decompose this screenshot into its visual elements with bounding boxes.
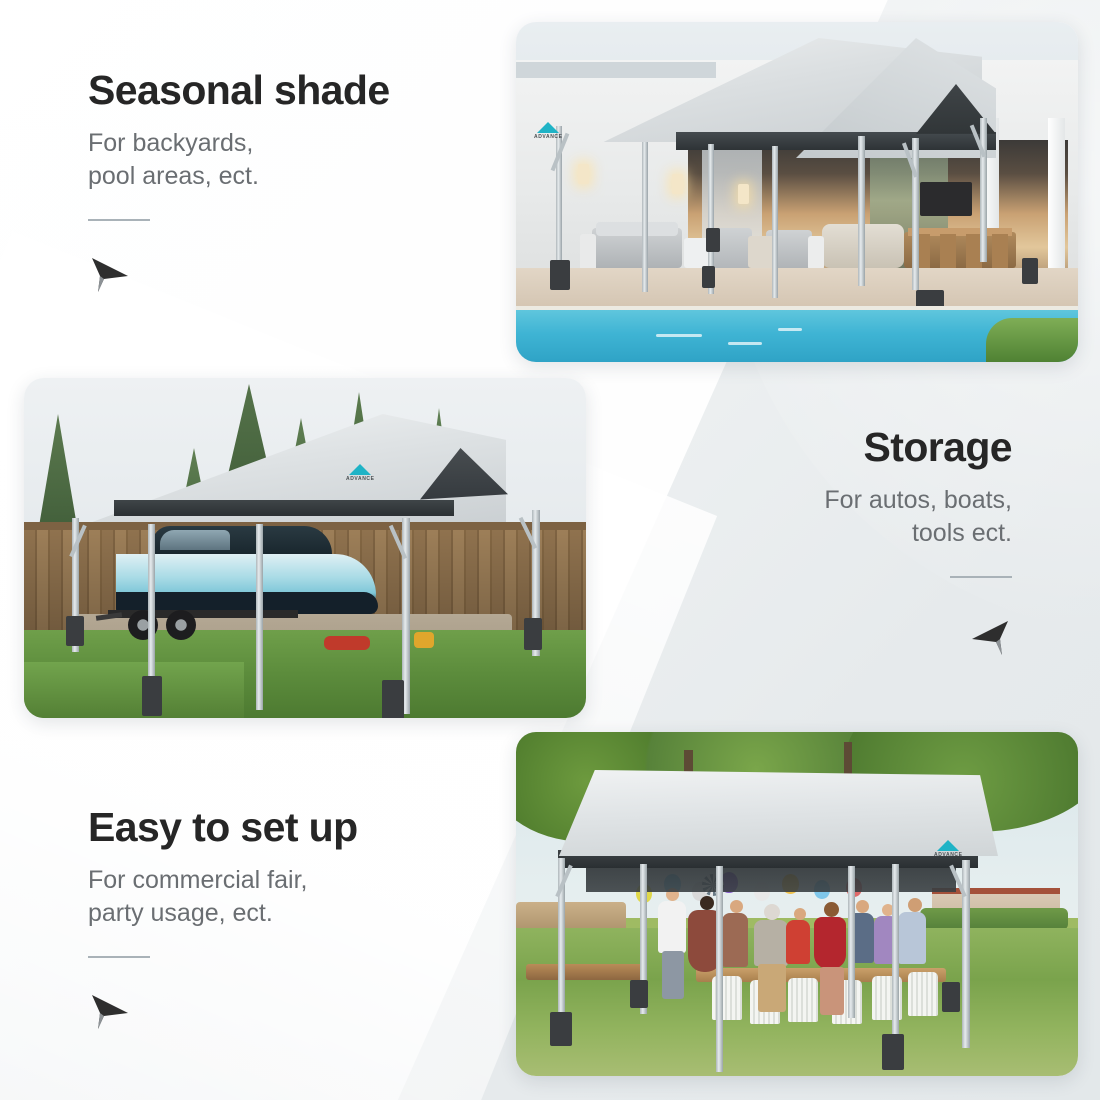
feature-subtitle: For backyards, pool areas, ect. [88, 127, 390, 193]
feature-block-seasonal-shade: Seasonal shade For backyards, pool areas… [88, 68, 390, 295]
brand-logo: ADVANCE [534, 122, 563, 140]
arrow-right-icon [88, 992, 130, 1032]
feature-subtitle-line2: party usage, ect. [88, 899, 273, 927]
feature-subtitle-line1: For commercial fair, [88, 866, 307, 894]
feature-subtitle-line1: For backyards, [88, 129, 253, 157]
advance-peak-icon [937, 840, 959, 851]
photo-garden-party-scene: ADVANCE [516, 732, 1078, 1076]
feature-block-storage: Storage For autos, boats, tools ect. [824, 425, 1012, 658]
feature-subtitle: For autos, boats, tools ect. [824, 484, 1012, 550]
brand-name: ADVANCE [934, 852, 963, 858]
photo-pool-patio-scene: ADVANCE [516, 22, 1078, 362]
divider-rule [950, 576, 1012, 578]
brand-name: ADVANCE [534, 134, 563, 140]
marketing-canvas: Seasonal shade For backyards, pool areas… [0, 0, 1100, 1100]
arrow-left-icon [970, 618, 1012, 658]
arrow-right-icon [88, 255, 130, 295]
photo-card-party-setup: ADVANCE [516, 732, 1078, 1076]
brand-logo: ADVANCE [934, 840, 963, 858]
feature-title: Storage [824, 425, 1012, 469]
feature-subtitle-line2: pool areas, ect. [88, 162, 259, 190]
photo-card-pool-patio: ADVANCE [516, 22, 1078, 362]
advance-peak-icon [349, 464, 371, 475]
divider-rule [88, 219, 150, 221]
divider-rule [88, 956, 150, 958]
feature-title: Seasonal shade [88, 68, 390, 112]
feature-subtitle-line1: For autos, boats, [824, 486, 1012, 514]
brand-name: ADVANCE [346, 476, 375, 482]
photo-boat-carport-scene: ADVANCE [24, 378, 586, 718]
feature-subtitle: For commercial fair, party usage, ect. [88, 864, 358, 930]
brand-logo: ADVANCE [346, 464, 375, 482]
photo-card-boat-storage: ADVANCE [24, 378, 586, 718]
advance-peak-icon [537, 122, 559, 133]
feature-subtitle-line2: tools ect. [912, 519, 1012, 547]
feature-title: Easy to set up [88, 805, 358, 849]
feature-block-easy-to-set-up: Easy to set up For commercial fair, part… [88, 805, 358, 1032]
